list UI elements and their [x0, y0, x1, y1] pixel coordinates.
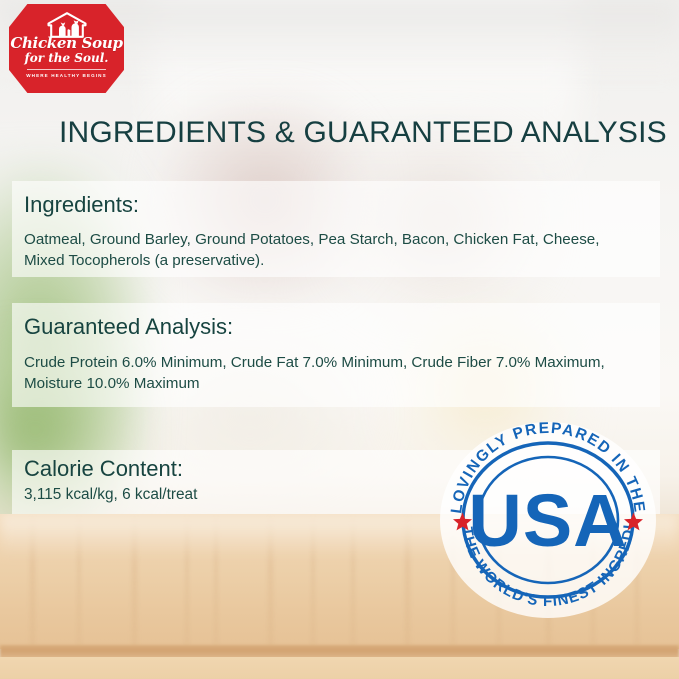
- made-in-usa-seal: LOVINGLY PREPARED IN THE WITH THE WORLD'…: [437, 420, 659, 620]
- page-title: INGREDIENTS & GUARANTEED ANALYSIS: [59, 116, 667, 150]
- table-apron: [0, 657, 679, 679]
- calorie-content-heading: Calorie Content:: [24, 456, 183, 482]
- guaranteed-analysis-text: Crude Protein 6.0% Minimum, Crude Fat 7.…: [24, 352, 649, 394]
- ingredients-text: Oatmeal, Ground Barley, Ground Potatoes,…: [24, 229, 644, 271]
- seal-usa-text: USA: [468, 479, 627, 562]
- logo-script-line1: Chicken Soup: [9, 36, 124, 51]
- ingredients-heading: Ingredients:: [24, 192, 139, 218]
- logo-divider-rule: [27, 69, 106, 70]
- logo-script-line2: for the Soul.: [9, 52, 124, 64]
- brand-logo: Chicken Soup for the Soul. WHERE HEALTHY…: [9, 4, 124, 93]
- calorie-content-text: 3,115 kcal/kg, 6 kcal/treat: [24, 484, 424, 505]
- guaranteed-analysis-heading: Guaranteed Analysis:: [24, 314, 233, 340]
- product-label-page: Chicken Soup for the Soul. WHERE HEALTHY…: [0, 0, 679, 679]
- logo-tagline: WHERE HEALTHY BEGINS: [9, 73, 124, 80]
